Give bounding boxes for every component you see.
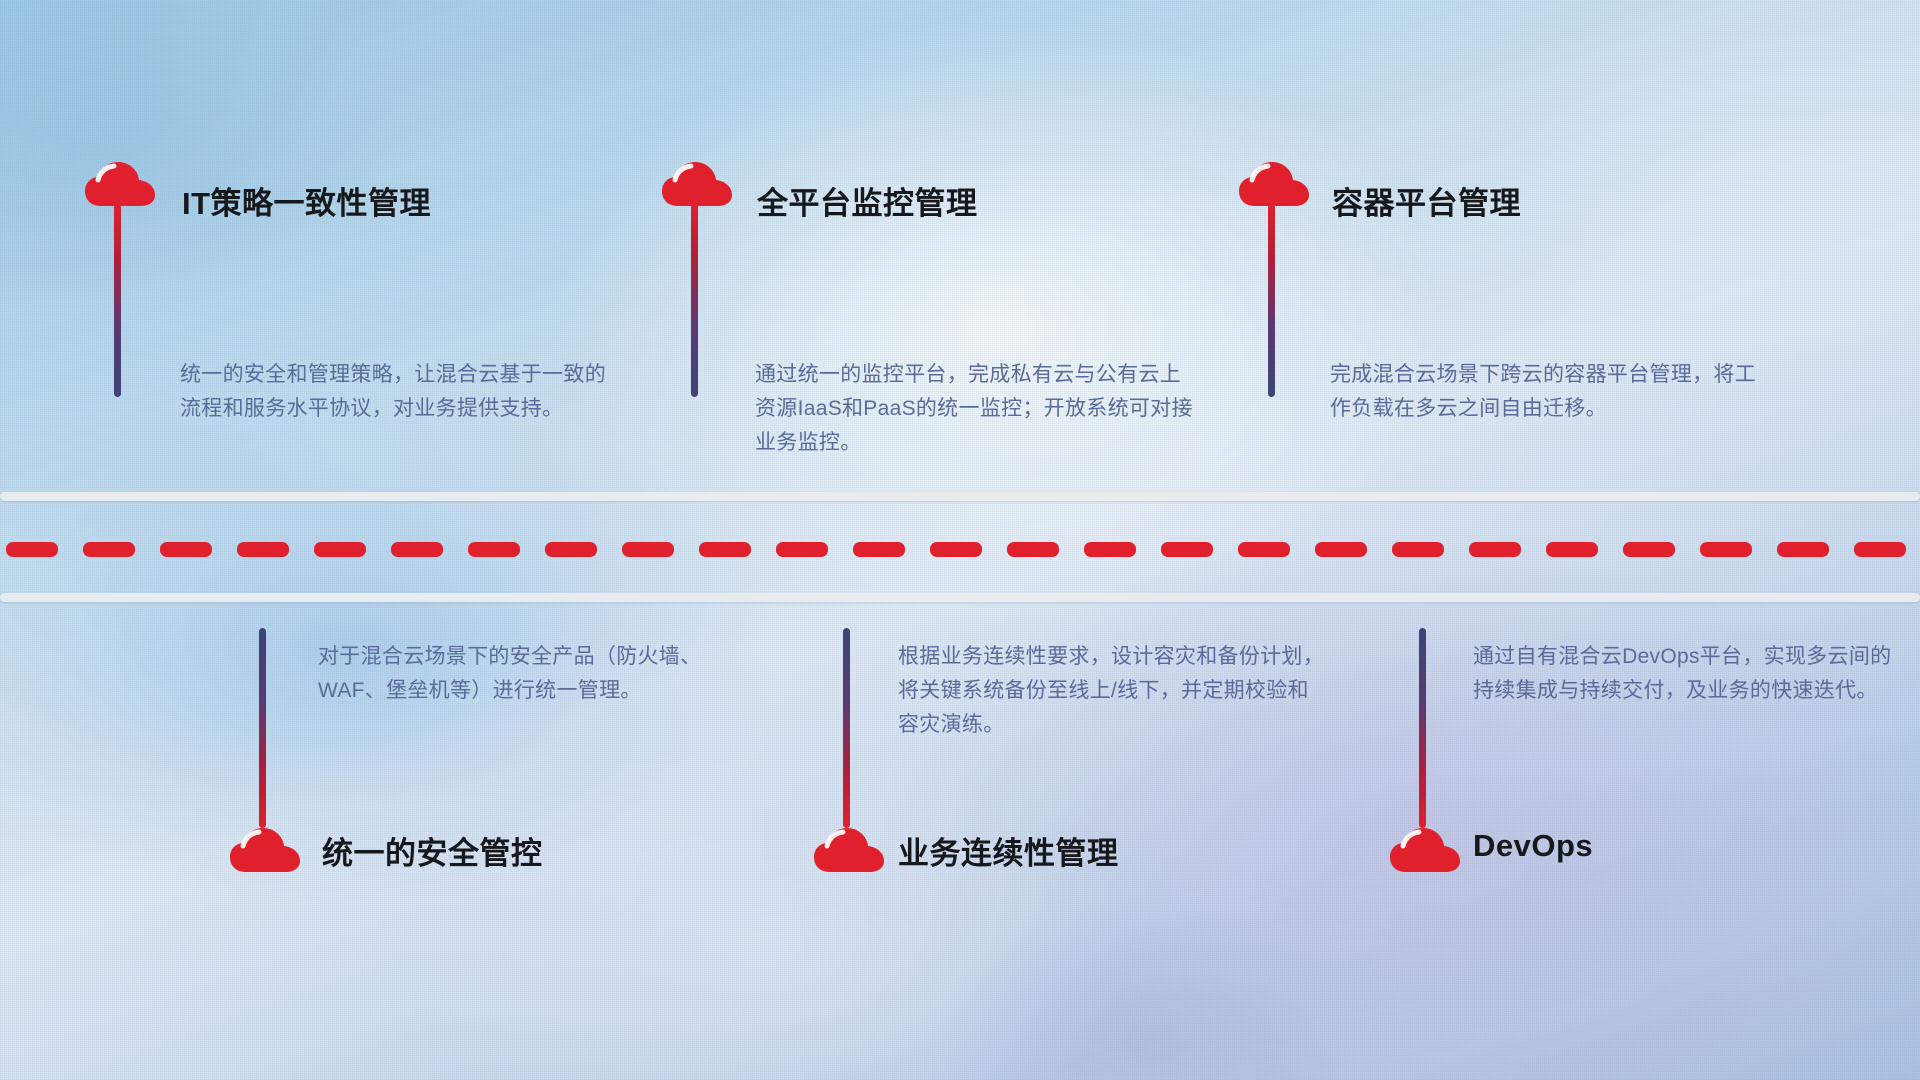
pin-stem-5 — [843, 628, 850, 828]
pin-stem-2 — [691, 204, 698, 397]
divider-dash — [1777, 542, 1829, 557]
bottom-card-body-2: 根据业务连续性要求，设计容灾和备份计划，将关键系统备份至线上/线下，并定期校验和… — [898, 640, 1328, 742]
pin-stem-6 — [1419, 628, 1426, 828]
pin-stem-4 — [259, 628, 266, 828]
divider-dash — [468, 542, 520, 557]
cloud-icon — [1388, 826, 1462, 874]
divider-dash — [699, 542, 751, 557]
divider-dash — [1469, 542, 1521, 557]
cloud-pin-3 — [1237, 160, 1311, 208]
cloud-pin-1 — [83, 160, 157, 208]
divider-dash — [314, 542, 366, 557]
bottom-card-title-1: 统一的安全管控 — [322, 828, 543, 873]
divider-dash — [545, 542, 597, 557]
cloud-icon — [1237, 160, 1311, 208]
bottom-card-title-3: DevOps — [1473, 828, 1593, 864]
bottom-card-body-3: 通过自有混合云DevOps平台，实现多云间的持续集成与持续交付，及业务的快速迭代… — [1473, 640, 1903, 708]
top-card-body-3: 完成混合云场景下跨云的容器平台管理，将工作负载在多云之间自由迁移。 — [1330, 358, 1760, 426]
top-card-body-2: 通过统一的监控平台，完成私有云与公有云上资源IaaS和PaaS的统一监控；开放系… — [755, 358, 1195, 460]
bottom-card-title-2: 业务连续性管理 — [898, 828, 1119, 873]
divider-rail-bottom — [0, 593, 1920, 602]
cloud-icon — [83, 160, 157, 208]
top-card-body-1: 统一的安全和管理策略，让混合云基于一致的流程和服务水平协议，对业务提供支持。 — [180, 358, 610, 426]
divider-dash — [1238, 542, 1290, 557]
pin-stem-1 — [114, 204, 121, 397]
top-card-title-2: 全平台监控管理 — [757, 178, 978, 223]
divider-rail-top — [0, 492, 1920, 501]
divider-dash — [1700, 542, 1752, 557]
divider-dash — [853, 542, 905, 557]
cloud-icon — [660, 160, 734, 208]
divider-dash — [6, 542, 58, 557]
divider-dash — [83, 542, 135, 557]
divider-dash — [237, 542, 289, 557]
top-card-title-1: IT策略一致性管理 — [182, 178, 431, 223]
divider-dash — [1392, 542, 1444, 557]
bottom-card-body-1: 对于混合云场景下的安全产品（防火墙、WAF、堡垒机等）进行统一管理。 — [318, 640, 748, 708]
divider-dash — [1161, 542, 1213, 557]
divider-dash — [930, 542, 982, 557]
cloud-icon — [228, 826, 302, 874]
divider-dash — [1854, 542, 1906, 557]
divider-dash — [1546, 542, 1598, 557]
divider-dash — [1084, 542, 1136, 557]
cloud-pin-2 — [660, 160, 734, 208]
pin-stem-3 — [1268, 204, 1275, 397]
divider-dash — [1007, 542, 1059, 557]
divider-dashed-line — [0, 541, 1920, 557]
divider-dash — [160, 542, 212, 557]
cloud-icon — [812, 826, 886, 874]
top-card-title-3: 容器平台管理 — [1332, 178, 1521, 223]
divider-dash — [391, 542, 443, 557]
divider-dash — [1315, 542, 1367, 557]
divider-dash — [776, 542, 828, 557]
center-divider — [0, 492, 1920, 602]
divider-dash — [622, 542, 674, 557]
divider-dash — [1623, 542, 1675, 557]
